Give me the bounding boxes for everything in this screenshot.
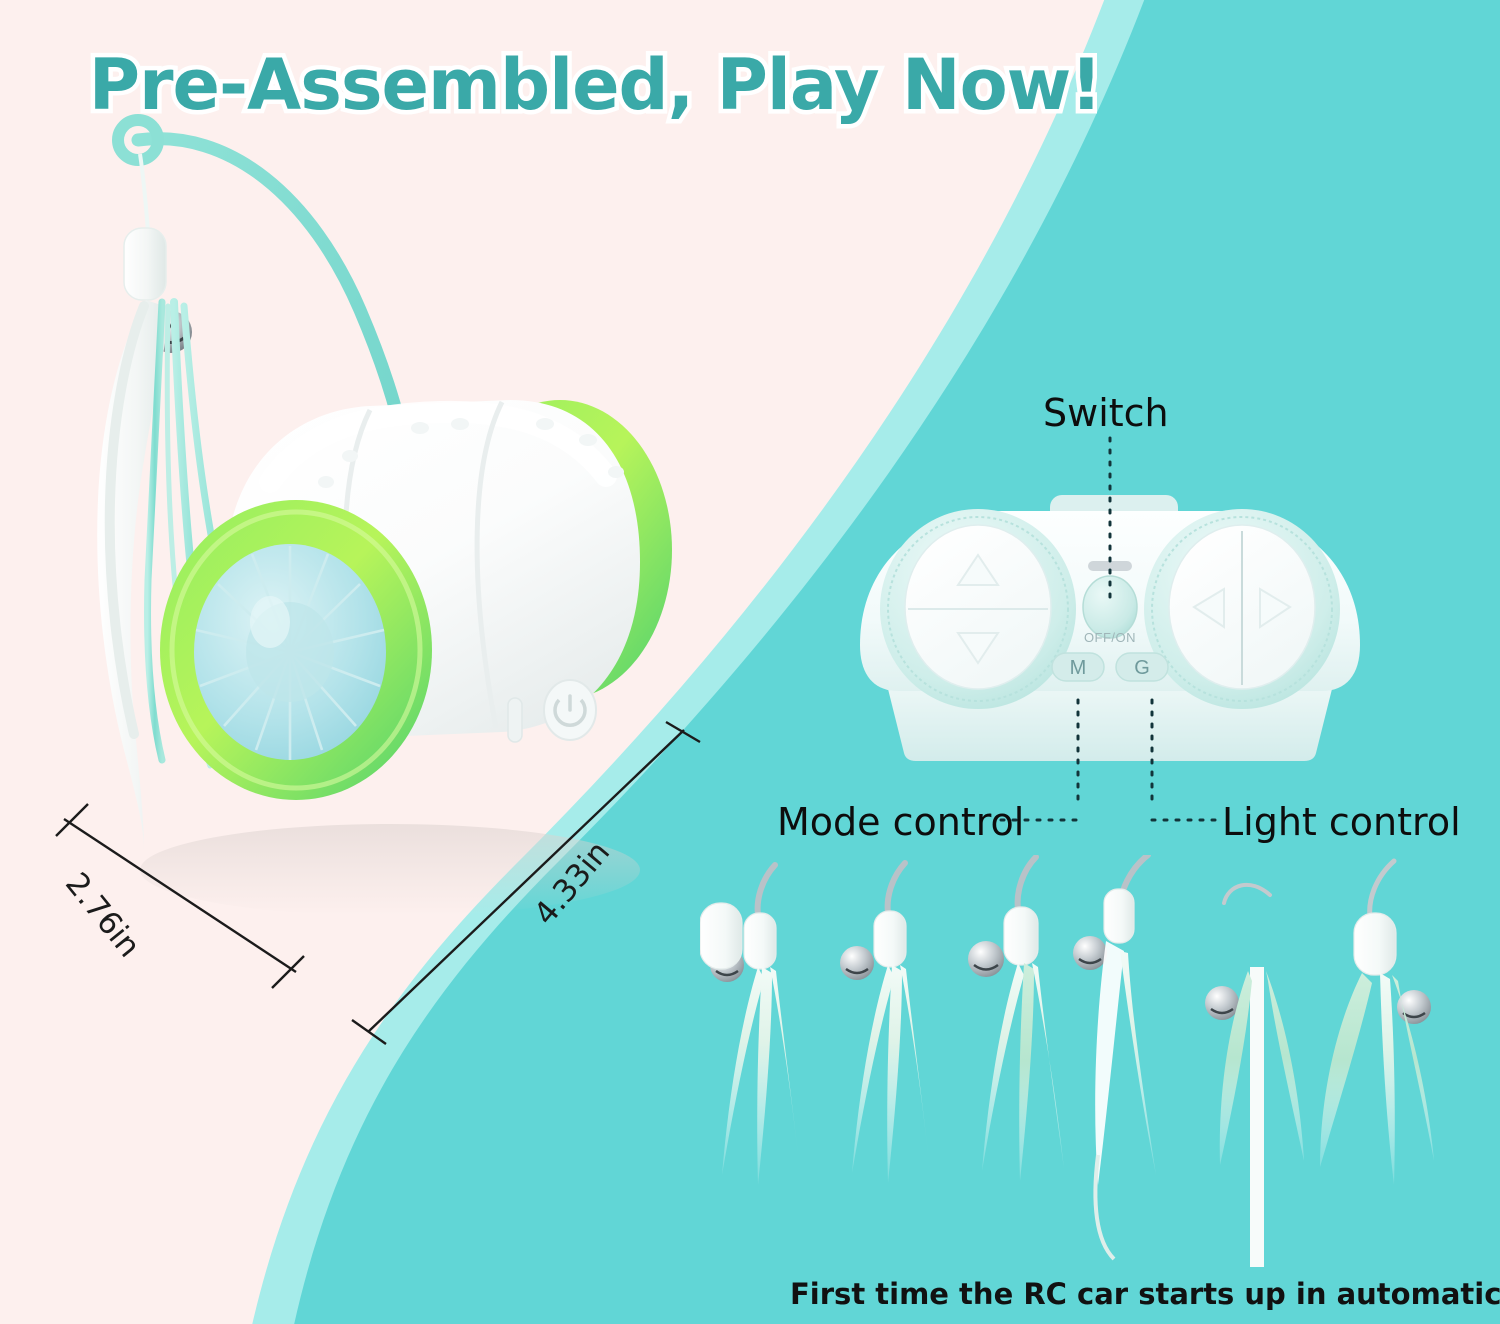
callout-switch: Switch [1043, 391, 1169, 435]
feathers-graphic [700, 855, 1500, 1275]
feather-item [968, 857, 1064, 1181]
bottom-caption: First time the RC car starts up in autom… [790, 1277, 1500, 1311]
charge-port [508, 698, 522, 742]
feather-item [840, 863, 930, 1183]
light-button-label: G [1134, 657, 1150, 679]
feather-item [1073, 855, 1156, 1259]
remote-graphic: OFF/ON M G [830, 485, 1390, 785]
product-image [40, 110, 740, 1010]
remote-control-image: OFF/ON M G [830, 485, 1390, 785]
feather-item [1320, 861, 1434, 1185]
steering-dpad [1144, 509, 1340, 709]
power-label: OFF/ON [1084, 630, 1136, 645]
feather-item [700, 885, 1304, 1267]
callout-mode-control: Mode control [777, 800, 1024, 844]
led-indicator [1088, 561, 1132, 571]
mode-button: M [1052, 653, 1104, 681]
mode-button-label: M [1070, 657, 1087, 679]
toy-ball-graphic [40, 110, 740, 1010]
speed-dpad [880, 509, 1076, 709]
feather-accessories-image [700, 855, 1500, 1275]
callout-light-control: Light control [1222, 800, 1461, 844]
power-switch-button [1083, 576, 1137, 638]
power-button [544, 680, 596, 740]
light-button: G [1116, 653, 1168, 681]
product-infographic: Pre-Assembled, Play Now! [0, 0, 1500, 1324]
